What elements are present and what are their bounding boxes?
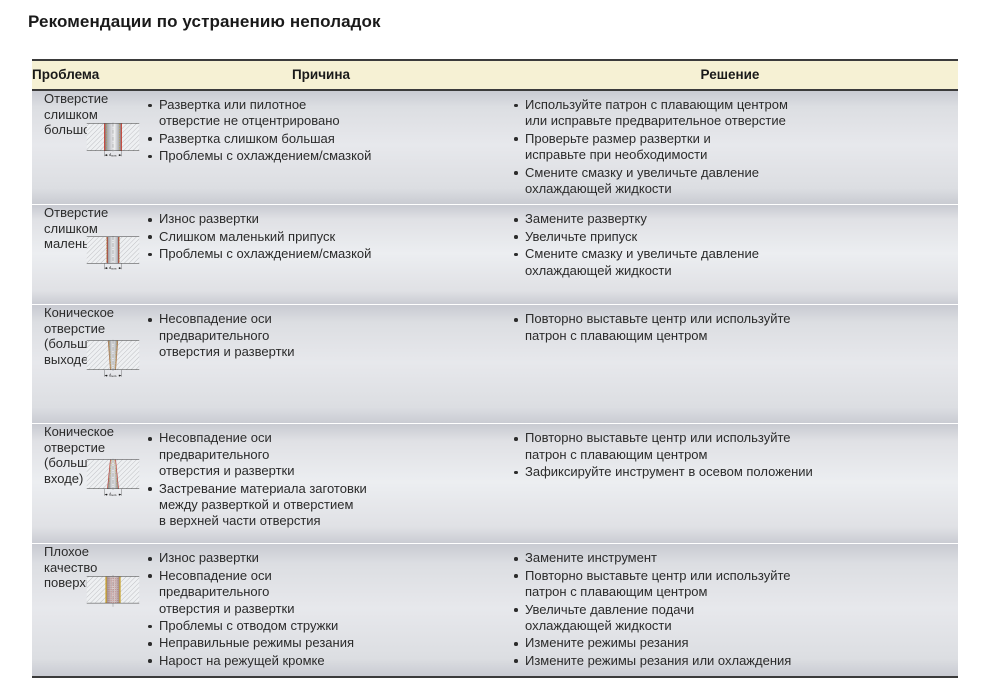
list-item: Проблемы с отводом стружки <box>146 618 494 634</box>
table-row: Коническое отверстие (больше на выходе) <box>32 305 958 424</box>
list-item: Слишком маленький припуск <box>146 229 494 245</box>
cause-list: Развертка или пилотное отверстие не отце… <box>146 97 494 165</box>
bore-taper-exit-diagram: dnom <box>86 305 140 413</box>
cell-cause: Износ развертки Несовпадение оси предвар… <box>140 544 502 677</box>
list-item: Износ развертки <box>146 550 494 566</box>
list-item: Проблемы с охлаждением/смазкой <box>146 246 494 262</box>
cell-problem: Коническое отверстие (больше на выходе) <box>32 305 86 424</box>
column-header-problem: Проблема <box>32 60 140 90</box>
column-header-solution: Решение <box>502 60 958 90</box>
cell-cause: Несовпадение оси предварительного отверс… <box>140 424 502 544</box>
table-row: Отверстие слишком большое <box>32 90 958 205</box>
cause-list: Несовпадение оси предварительного отверс… <box>146 430 494 529</box>
list-item: Износ развертки <box>146 211 494 227</box>
list-item: Несовпадение оси предварительного отверс… <box>146 568 494 617</box>
cell-cause: Несовпадение оси предварительного отверс… <box>140 305 502 424</box>
list-item: Увеличьте припуск <box>512 229 950 245</box>
cell-solution: Повторно выставьте центр или используйте… <box>502 305 958 424</box>
cell-cause: Развертка или пилотное отверстие не отце… <box>140 90 502 205</box>
column-header-cause: Причина <box>140 60 502 90</box>
cell-solution: Замените развертку Увеличьте припуск Сме… <box>502 205 958 305</box>
list-item: Используйте патрон с плавающим центром и… <box>512 97 950 130</box>
list-item: Проверьте размер развертки и исправьте п… <box>512 131 950 164</box>
solution-list: Повторно выставьте центр или используйте… <box>512 430 950 480</box>
list-item: Повторно выставьте центр или используйте… <box>512 568 950 601</box>
cell-figure: dnom <box>86 305 140 424</box>
solution-list: Замените инструмент Повторно выставьте ц… <box>512 550 950 669</box>
header-row: Проблема Причина Решение <box>32 60 958 90</box>
bore-oversize-diagram: dnom <box>86 91 140 189</box>
troubleshooting-table: Проблема Причина Решение Отверстие слишк… <box>32 59 958 678</box>
cell-solution: Повторно выставьте центр или используйте… <box>502 424 958 544</box>
list-item: Развертка или пилотное отверстие не отце… <box>146 97 494 130</box>
cell-figure <box>86 544 140 677</box>
page-title: Рекомендации по устранению неполадок <box>28 12 381 32</box>
cell-problem: Плохое качество поверхности <box>32 544 86 677</box>
list-item: Повторно выставьте центр или используйте… <box>512 430 950 463</box>
list-item: Зафиксируйте инструмент в осевом положен… <box>512 464 950 480</box>
table-row: Коническое отверстие (больше на входе) <box>32 424 958 544</box>
list-item: Замените инструмент <box>512 550 950 566</box>
cell-problem: Коническое отверстие (больше на входе) <box>32 424 86 544</box>
list-item: Нарост на режущей кромке <box>146 653 494 669</box>
list-item: Смените смазку и увеличьте давление охла… <box>512 246 950 279</box>
list-item: Развертка слишком большая <box>146 131 494 147</box>
cell-figure: dnom <box>86 424 140 544</box>
list-item: Застревание материала заготовки между ра… <box>146 481 494 530</box>
table-header: Проблема Причина Решение <box>32 60 958 90</box>
solution-list: Используйте патрон с плавающим центром и… <box>512 97 950 197</box>
list-item: Несовпадение оси предварительного отверс… <box>146 430 494 479</box>
cell-problem: Отверстие слишком большое <box>32 90 86 205</box>
cause-list: Несовпадение оси предварительного отверс… <box>146 311 494 360</box>
cell-figure: dnom <box>86 205 140 305</box>
bore-poor-surface-diagram <box>86 544 140 640</box>
cell-cause: Износ развертки Слишком маленький припус… <box>140 205 502 305</box>
cell-figure: dnom <box>86 90 140 205</box>
table-row: Плохое качество поверхности <box>32 544 958 677</box>
list-item: Неправильные режимы резания <box>146 635 494 651</box>
cause-list: Износ развертки Слишком маленький припус… <box>146 211 494 262</box>
bore-taper-entry-diagram: dnom <box>86 424 140 532</box>
cell-solution: Замените инструмент Повторно выставьте ц… <box>502 544 958 677</box>
table-body: Отверстие слишком большое <box>32 90 958 677</box>
cell-problem: Отверстие слишком маленькое <box>32 205 86 305</box>
cell-solution: Используйте патрон с плавающим центром и… <box>502 90 958 205</box>
solution-list: Замените развертку Увеличьте припуск Сме… <box>512 211 950 279</box>
list-item: Измените режимы резания <box>512 635 950 651</box>
list-item: Замените развертку <box>512 211 950 227</box>
list-item: Смените смазку и увеличьте давление охла… <box>512 165 950 198</box>
troubleshooting-table-container: Проблема Причина Решение Отверстие слишк… <box>32 59 958 678</box>
table-row: Отверстие слишком маленькое <box>32 205 958 305</box>
list-item: Несовпадение оси предварительного отверс… <box>146 311 494 360</box>
list-item: Повторно выставьте центр или используйте… <box>512 311 950 344</box>
solution-list: Повторно выставьте центр или используйте… <box>512 311 950 344</box>
list-item: Проблемы с охлаждением/смазкой <box>146 148 494 164</box>
list-item: Измените режимы резания или охлаждения <box>512 653 950 669</box>
bore-undersize-diagram: dnom <box>86 205 140 301</box>
cause-list: Износ развертки Несовпадение оси предвар… <box>146 550 494 669</box>
list-item: Увеличьте давление подачи охлаждающей жи… <box>512 602 950 635</box>
